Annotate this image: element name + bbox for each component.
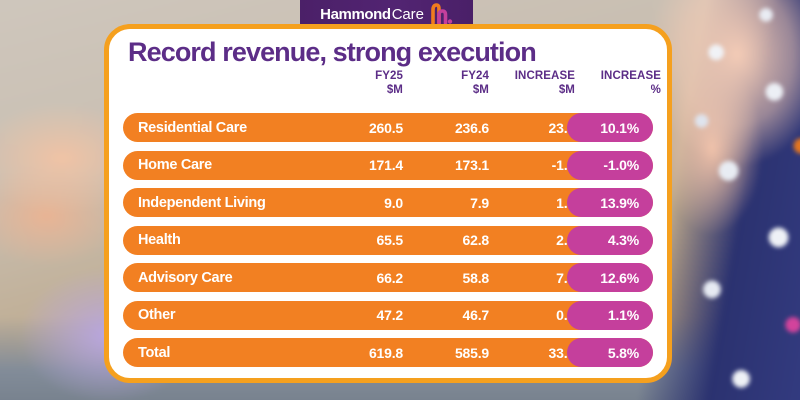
- table-row: Health65.562.82.74.3%: [123, 226, 653, 255]
- cell-fy24: 236.6: [403, 120, 489, 136]
- row-label: Advisory Care: [123, 270, 317, 286]
- cell-increase-m: 2.7: [489, 232, 575, 248]
- logo-brand-bold: Hammond: [320, 6, 391, 23]
- column-header-fy24-line1: FY24: [403, 69, 489, 83]
- column-header-increase-pct-line2: %: [575, 83, 661, 97]
- column-header-increase-m: INCREASE $M: [489, 69, 575, 97]
- row-label: Independent Living: [123, 195, 317, 211]
- screenshot-root: Hammond Care Record revenue, strong exec…: [0, 0, 800, 400]
- column-header-increase-m-line1: INCREASE: [489, 69, 575, 83]
- cell-fy25: 9.0: [317, 195, 403, 211]
- column-header-fy25-line1: FY25: [317, 69, 403, 83]
- cell-fy24: 62.8: [403, 232, 489, 248]
- cell-fy24: 58.8: [403, 270, 489, 286]
- cell-increase-m: 0.5: [489, 307, 575, 323]
- cell-increase-m: 23.9: [489, 120, 575, 136]
- table-header-row: FY25 $M FY24 $M INCREASE $M INCREASE %: [123, 69, 653, 109]
- table-row: Other47.246.70.51.1%: [123, 301, 653, 330]
- cell-increase-m: -1.7: [489, 157, 575, 173]
- cell-fy25: 260.5: [317, 120, 403, 136]
- increase-pct-badge: 12.6%: [567, 263, 653, 292]
- table-row: Advisory Care66.258.87.412.6%: [123, 263, 653, 292]
- column-header-fy25: FY25 $M: [317, 69, 403, 97]
- column-header-increase-pct-line1: INCREASE: [575, 69, 661, 83]
- cell-increase-m: 1.1: [489, 195, 575, 211]
- cell-fy24: 585.9: [403, 345, 489, 361]
- column-header-increase-pct: INCREASE %: [575, 69, 675, 97]
- table-row: Home Care171.4173.1-1.7-1.0%: [123, 151, 653, 180]
- table-body: Residential Care260.5236.623.910.1%Home …: [123, 113, 653, 367]
- cell-fy24: 7.9: [403, 195, 489, 211]
- table-row: Residential Care260.5236.623.910.1%: [123, 113, 653, 142]
- increase-pct-badge: 1.1%: [567, 301, 653, 330]
- cell-increase-m: 7.4: [489, 270, 575, 286]
- increase-pct-badge: -1.0%: [567, 151, 653, 180]
- column-header-fy24: FY24 $M: [403, 69, 489, 97]
- page-title: Record revenue, strong execution: [128, 37, 536, 68]
- column-header-fy25-line2: $M: [317, 83, 403, 97]
- cell-fy25: 619.8: [317, 345, 403, 361]
- row-label: Other: [123, 307, 317, 323]
- cell-increase-m: 33.9: [489, 345, 575, 361]
- logo-h-mark-icon: [429, 3, 453, 25]
- column-header-fy24-line2: $M: [403, 83, 489, 97]
- cell-fy25: 47.2: [317, 307, 403, 323]
- table-row: Total619.8585.933.95.8%: [123, 338, 653, 367]
- increase-pct-badge: 13.9%: [567, 188, 653, 217]
- revenue-card: Record revenue, strong execution FY25 $M…: [104, 24, 672, 383]
- cell-fy24: 46.7: [403, 307, 489, 323]
- increase-pct-badge: 4.3%: [567, 226, 653, 255]
- cell-fy25: 171.4: [317, 157, 403, 173]
- row-label: Health: [123, 232, 317, 248]
- table-row: Independent Living9.07.91.113.9%: [123, 188, 653, 217]
- column-header-increase-m-line2: $M: [489, 83, 575, 97]
- row-label: Total: [123, 345, 317, 361]
- row-label: Residential Care: [123, 120, 317, 136]
- cell-fy25: 65.5: [317, 232, 403, 248]
- row-label: Home Care: [123, 157, 317, 173]
- cell-fy24: 173.1: [403, 157, 489, 173]
- increase-pct-badge: 5.8%: [567, 338, 653, 367]
- increase-pct-badge: 10.1%: [567, 113, 653, 142]
- logo-brand-light: Care: [392, 6, 424, 23]
- cell-fy25: 66.2: [317, 270, 403, 286]
